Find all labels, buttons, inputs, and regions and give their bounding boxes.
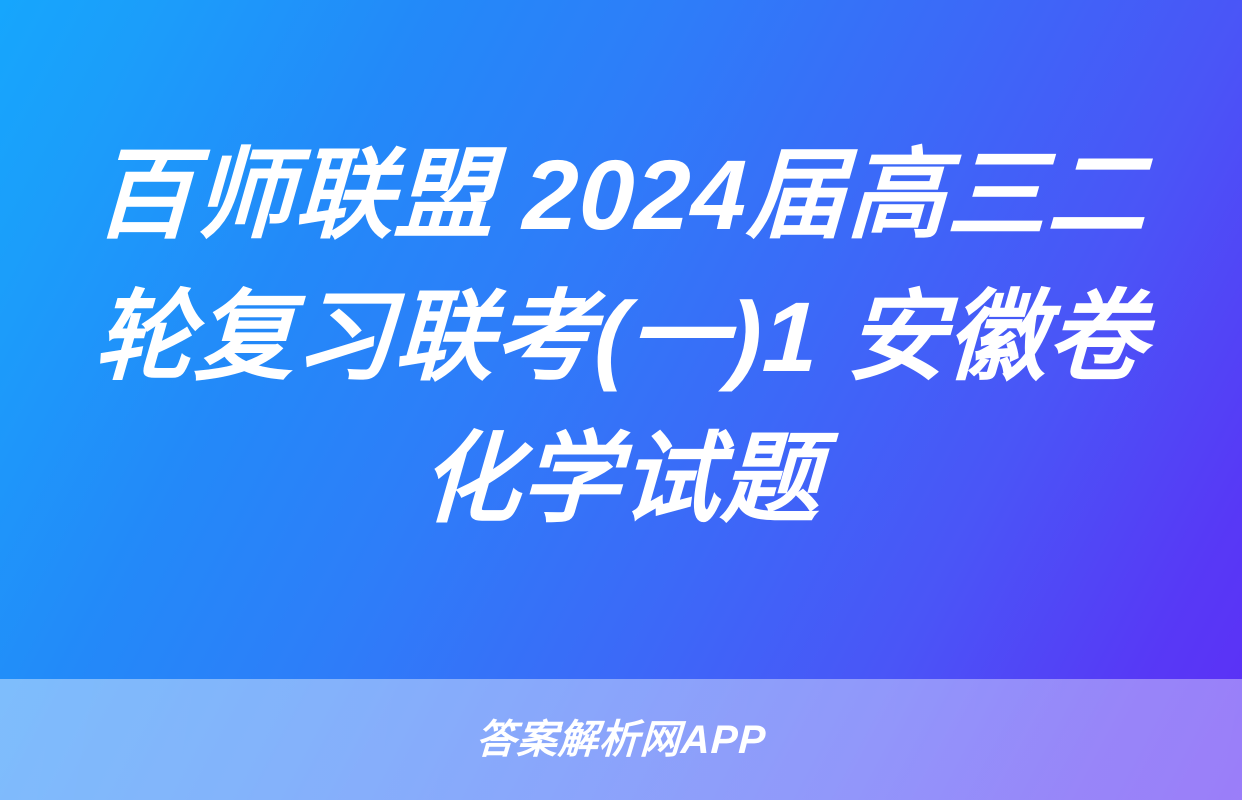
hero-section: 百师联盟 2024届高三二 轮复习联考(一)1 安徽卷 化学试题 xyxy=(0,0,1242,679)
page-title: 百师联盟 2024届高三二 轮复习联考(一)1 安徽卷 化学试题 xyxy=(78,124,1164,550)
title-line-2: 轮复习联考(一)1 安徽卷 xyxy=(76,266,1167,408)
brand-watermark: 答案解析网APP xyxy=(475,716,768,764)
footer-brand-band: 答案解析网APP xyxy=(0,679,1242,800)
poster-root: 百师联盟 2024届高三二 轮复习联考(一)1 安徽卷 化学试题 答案解析网AP… xyxy=(0,0,1242,800)
title-line-3: 化学试题 xyxy=(76,408,1167,550)
title-line-1: 百师联盟 2024届高三二 xyxy=(76,124,1167,266)
